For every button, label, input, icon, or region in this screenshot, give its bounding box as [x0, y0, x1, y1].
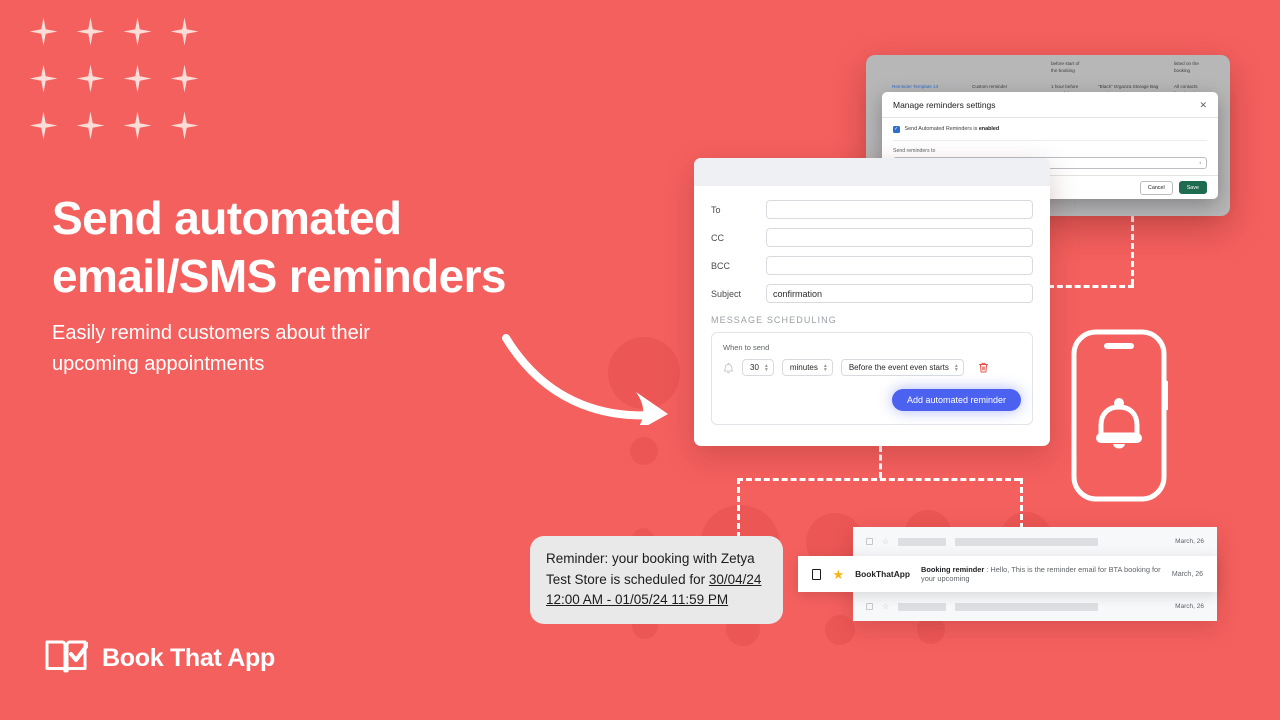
subject-label: Subject — [711, 289, 766, 299]
sparkle-icon — [124, 18, 152, 46]
sparkle-icon — [124, 112, 152, 140]
sender-placeholder — [898, 603, 946, 611]
reminder-amount-stepper[interactable]: 30 ▲▼ — [742, 359, 774, 376]
reminder-relation-value: Before the event even starts — [849, 363, 949, 372]
sms-line-1: Reminder: your booking with Zetya — [546, 551, 755, 566]
book-check-icon — [44, 638, 88, 678]
composer-title-bar — [694, 158, 1050, 186]
reminder-amount-value: 30 — [750, 363, 759, 372]
phone-illustration — [1070, 328, 1168, 503]
message-scheduling-heading: MESSAGE SCHEDULING — [711, 315, 1033, 325]
sparkle-icon — [171, 112, 199, 140]
sender-placeholder — [898, 538, 946, 546]
stepper-arrows-icon[interactable]: ▲▼ — [764, 364, 769, 372]
sparkle-icon — [77, 18, 105, 46]
add-reminder-row: Add automated reminder — [723, 389, 1021, 411]
reminder-unit-select[interactable]: minutes ▲▼ — [782, 359, 833, 376]
field-row-cc: CC — [711, 228, 1033, 247]
deco-circle — [630, 437, 658, 465]
bg-cell-top-5: listed on the booking — [1174, 61, 1199, 74]
field-row-bcc: BCC — [711, 256, 1033, 275]
sparkle-icon — [171, 18, 199, 46]
sms-date-1: 30/04/24 — [709, 572, 762, 587]
automated-reminders-toggle-row[interactable]: ✓ Send Automated Reminders is enabled — [893, 126, 1207, 141]
curved-arrow-icon — [500, 330, 685, 425]
sparkle-icon — [30, 18, 58, 46]
email-date: March, 26 — [1175, 538, 1204, 545]
star-icon[interactable]: ☆ — [882, 538, 889, 546]
reminder-relation-select[interactable]: Before the event even starts ▲▼ — [841, 359, 964, 376]
brand-logo: Book That App — [44, 638, 275, 678]
automated-reminders-label: Send Automated Reminders is enabled — [905, 126, 1000, 132]
subject-input[interactable]: confirmation — [766, 284, 1033, 303]
page-title: Send automated email/SMS reminders — [52, 190, 506, 306]
send-reminders-to-label: Send reminders to — [893, 148, 1207, 154]
sms-preview-bubble: Reminder: your booking with Zetya Test S… — [530, 536, 783, 624]
subject-placeholder — [955, 603, 1098, 611]
field-row-to: To — [711, 200, 1033, 219]
headline-line-1: Send automated — [52, 192, 401, 244]
cc-input[interactable] — [766, 228, 1033, 247]
brand-name: Book That App — [102, 644, 275, 673]
checkbox-icon[interactable] — [866, 603, 873, 610]
cancel-button[interactable]: Cancel — [1140, 181, 1173, 195]
chevron-updown-icon: ↕ — [1199, 160, 1201, 165]
star-icon[interactable]: ☆ — [882, 603, 889, 611]
composer-body: To CC BCC Subject confirmation MESSAGE S… — [694, 186, 1050, 425]
page-subtitle: Easily remind customers about their upco… — [52, 318, 370, 380]
sparkle-icon — [30, 112, 58, 140]
checkbox-icon[interactable] — [866, 538, 873, 545]
sparkle-icon — [77, 112, 105, 140]
bell-icon — [723, 362, 734, 374]
stepper-arrows-icon[interactable]: ▲▼ — [823, 364, 828, 372]
email-composer-card: To CC BCC Subject confirmation MESSAGE S… — [694, 158, 1050, 446]
scheduling-panel: When to send 30 ▲▼ minutes ▲▼ Before — [711, 332, 1033, 425]
field-row-subject: Subject confirmation — [711, 284, 1033, 303]
sparkle-icon — [171, 65, 199, 93]
sparkle-icon — [30, 65, 58, 93]
headline-line-2: email/SMS reminders — [52, 250, 506, 302]
close-icon[interactable]: ✕ — [1199, 101, 1207, 110]
bg-cell-template: Reminder Template 13 — [892, 84, 938, 91]
sparkle-icon — [77, 65, 105, 93]
sms-date-2: 12:00 AM - 01/05/24 11:59 PM — [546, 592, 728, 607]
sparkle-pattern — [20, 8, 208, 149]
list-item[interactable]: ☆ March, 26 — [853, 592, 1217, 621]
sms-line-2: Test Store is scheduled for — [546, 572, 709, 587]
cc-label: CC — [711, 233, 766, 243]
bell-icon — [1096, 398, 1142, 449]
bcc-label: BCC — [711, 261, 766, 271]
to-input[interactable] — [766, 200, 1033, 219]
star-icon[interactable]: ★ — [832, 568, 844, 581]
trash-icon[interactable] — [978, 362, 989, 374]
email-inbox-preview: ☆ March, 26 ☆ March, 26 ★ BookThatApp Bo… — [853, 527, 1217, 621]
list-item[interactable]: ☆ March, 26 — [853, 527, 1217, 556]
scheduling-row: 30 ▲▼ minutes ▲▼ Before the event even s… — [723, 359, 1021, 376]
modal-title: Manage reminders settings — [893, 100, 996, 110]
deco-circle — [825, 615, 855, 645]
email-sender: BookThatApp — [855, 569, 910, 579]
subject-placeholder — [955, 538, 1098, 546]
email-date: March, 26 — [1175, 603, 1204, 610]
bcc-input[interactable] — [766, 256, 1033, 275]
subhead-line-2: upcoming appointments — [52, 353, 264, 375]
email-date: March, 26 — [1172, 571, 1203, 578]
checkbox-icon[interactable] — [812, 569, 821, 580]
modal-header: Manage reminders settings ✕ — [882, 92, 1218, 118]
bg-cell-type: Custom reminder — [972, 84, 1007, 91]
reminder-unit-value: minutes — [790, 363, 818, 372]
checkbox-icon[interactable]: ✓ — [893, 126, 900, 133]
sparkle-icon — [124, 65, 152, 93]
save-button[interactable]: Save — [1179, 181, 1207, 194]
add-automated-reminder-button[interactable]: Add automated reminder — [892, 389, 1021, 411]
stepper-arrows-icon[interactable]: ▲▼ — [954, 364, 959, 372]
email-subject: Booking reminder : Hello, This is the re… — [921, 565, 1161, 583]
bg-cell-top-3: before start of the booking — [1051, 61, 1079, 74]
subhead-line-1: Easily remind customers about their — [52, 322, 370, 344]
highlighted-email-row[interactable]: ★ BookThatApp Booking reminder : Hello, … — [798, 556, 1217, 592]
when-to-send-label: When to send — [723, 343, 1021, 352]
to-label: To — [711, 205, 766, 215]
